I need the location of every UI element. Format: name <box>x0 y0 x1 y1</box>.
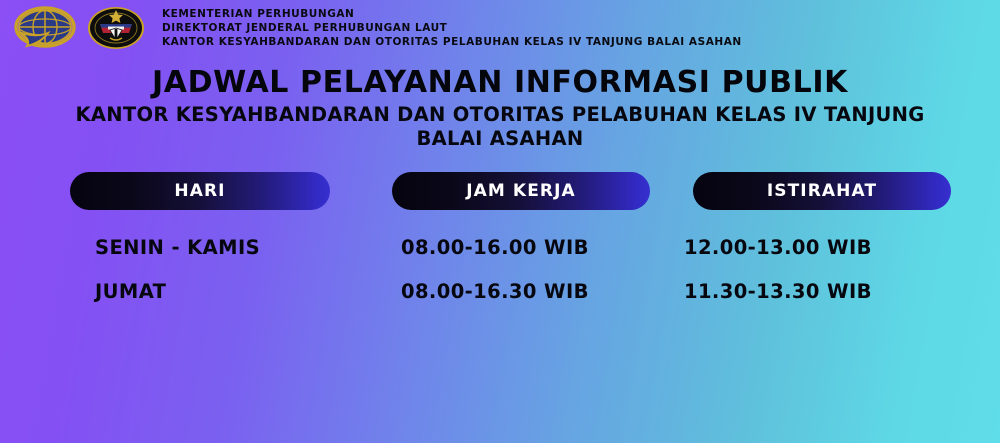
header-text-block: KEMENTERIAN PERHUBUNGAN DIREKTORAT JENDE… <box>162 4 742 49</box>
header-line-ministry: KEMENTERIAN PERHUBUNGAN <box>162 8 742 21</box>
table-row: SENIN - KAMIS 08.00-16.00 WIB 12.00-13.0… <box>62 225 962 269</box>
cell-jam-kerja: 08.00-16.30 WIB <box>362 280 652 303</box>
cell-jam-kerja: 08.00-16.00 WIB <box>362 236 652 259</box>
column-header-istirahat: ISTIRAHAT <box>693 172 951 210</box>
cell-hari: SENIN - KAMIS <box>62 236 362 259</box>
header-bar: KEMENTERIAN PERHUBUNGAN DIREKTORAT JENDE… <box>14 4 742 52</box>
schedule-header-row: HARI JAM KERJA ISTIRAHAT <box>62 172 962 210</box>
column-header-hari: HARI <box>70 172 330 210</box>
kementerian-perhubungan-globe-logo <box>14 4 76 52</box>
header-line-office: KANTOR KESYAHBANDARAN DAN OTORITAS PELAB… <box>162 36 742 49</box>
cell-hari: JUMAT <box>62 280 362 303</box>
cell-istirahat: 12.00-13.00 WIB <box>652 236 942 259</box>
title-block: JADWAL PELAYANAN INFORMASI PUBLIK KANTOR… <box>0 66 1000 151</box>
column-header-jam-kerja: JAM KERJA <box>392 172 650 210</box>
table-row: JUMAT 08.00-16.30 WIB 11.30-13.30 WIB <box>62 269 962 313</box>
direktorat-jenderal-perhubungan-laut-seal-logo <box>86 4 146 52</box>
header-line-directorate: DIREKTORAT JENDERAL PERHUBUNGAN LAUT <box>162 22 742 35</box>
cell-istirahat: 11.30-13.30 WIB <box>652 280 942 303</box>
schedule-table: HARI JAM KERJA ISTIRAHAT SENIN - KAMIS 0… <box>62 172 962 313</box>
page-title: JADWAL PELAYANAN INFORMASI PUBLIK <box>0 66 1000 100</box>
page-subtitle: KANTOR KESYAHBANDARAN DAN OTORITAS PELAB… <box>0 103 1000 151</box>
